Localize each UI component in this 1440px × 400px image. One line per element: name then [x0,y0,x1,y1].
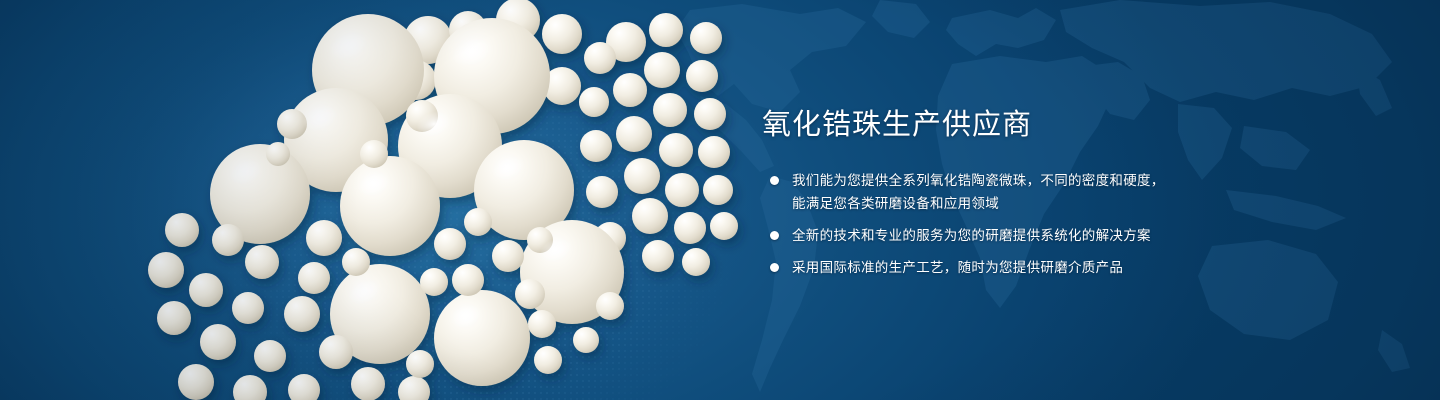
feature-list-item: 采用国际标准的生产工艺，随时为您提供研磨介质产品 [762,256,1322,279]
feature-list-item: 我们能为您提供全系列氧化锆陶瓷微珠，不同的密度和硬度， 能满足您各类研磨设备和应… [762,169,1322,215]
banner-copy: 氧化锆珠生产供应商 我们能为您提供全系列氧化锆陶瓷微珠，不同的密度和硬度， 能满… [762,105,1322,279]
banner-headline: 氧化锆珠生产供应商 [762,105,1322,145]
bullet-dot-icon [770,263,779,272]
feature-text-line: 我们能为您提供全系列氧化锆陶瓷微珠，不同的密度和硬度， [792,169,1322,192]
feature-text-line: 采用国际标准的生产工艺，随时为您提供研磨介质产品 [792,256,1322,279]
feature-list-item: 全新的技术和专业的服务为您的研磨提供系统化的解决方案 [762,224,1322,247]
hero-banner: 氧化锆珠生产供应商 我们能为您提供全系列氧化锆陶瓷微珠，不同的密度和硬度， 能满… [0,0,1440,400]
bullet-dot-icon [770,231,779,240]
feature-text-line: 能满足您各类研磨设备和应用领域 [792,192,1322,215]
bullet-dot-icon [770,176,779,185]
feature-text-line: 全新的技术和专业的服务为您的研磨提供系统化的解决方案 [792,224,1322,247]
feature-list: 我们能为您提供全系列氧化锆陶瓷微珠，不同的密度和硬度， 能满足您各类研磨设备和应… [762,169,1322,279]
